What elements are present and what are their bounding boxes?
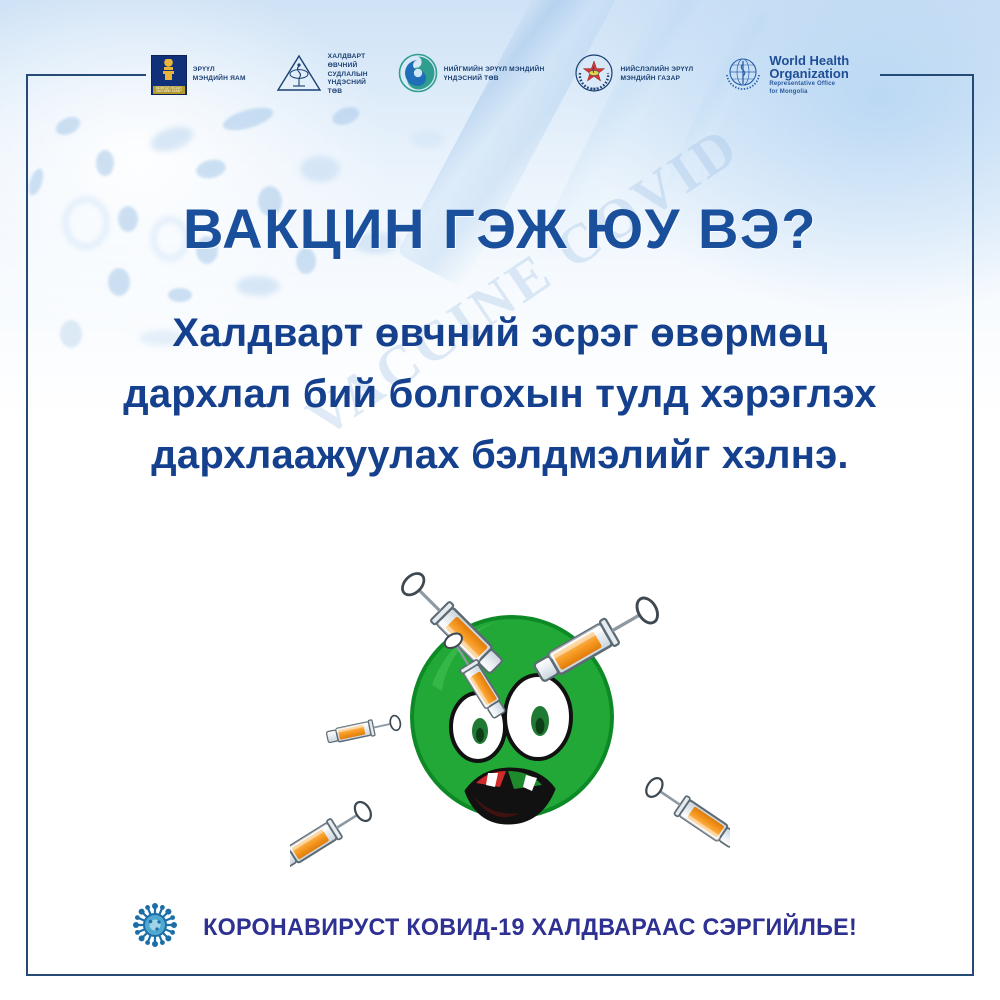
swirl-circle-icon — [398, 53, 438, 98]
logo-label-who-line2: Organization — [769, 67, 849, 81]
page-title: ВАКЦИН ГЭЖ ЮУ ВЭ? — [0, 196, 1000, 261]
syringe-lower-right — [642, 774, 730, 850]
body-line-3: дархлаажуулах бэлдмэлийг хэлнэ. — [40, 425, 960, 486]
logo-label-ncph: НИЙГМИЙН ЭРҮҮЛ МЭНДИЙН ҮНДЭСНИЙ ТӨВ — [444, 66, 545, 84]
virus-mascot-illustration — [290, 495, 730, 895]
footer-banner: КОРОНАВИРУСТ КОВИД-19 ХАЛДВАРААС СЭРГИЙЛ… — [0, 903, 1000, 952]
partner-logo-strip: МОНГОЛ УЛСЫН ЗАСГИЙН ГАЗАР ЭРҮҮЛ МЭНДИЙН… — [0, 44, 1000, 106]
logo-label-city-health-department: НИЙСЛЭЛИЙН ЭРҮҮЛ МЭНДИЙН ГАЗАР — [620, 66, 693, 84]
frame-bottom — [26, 974, 974, 976]
poster-canvas: VACCINE COVID МОНГОЛ УЛСЫН ЗАСГИЙН ГАЗАР… — [0, 0, 1000, 1000]
wreath-star-caduceus-icon: ЭМГ — [574, 53, 614, 98]
logo-ncph: НИЙГМИЙН ЭРҮҮЛ МЭНДИЙН ҮНДЭСНИЙ ТӨВ — [398, 53, 545, 98]
mongolia-state-emblem-icon: МОНГОЛ УЛСЫН ЗАСГИЙН ГАЗАР — [151, 55, 187, 95]
syringe-mid-left — [326, 714, 402, 745]
logo-who: World Health Organization Representative… — [723, 53, 849, 98]
logo-label-who-line1: World Health — [769, 54, 849, 68]
emblem-plate-text: МОНГОЛ УЛСЫН ЗАСГИЙН ГАЗАР — [153, 86, 185, 94]
body-line-2: дархлал бий болгохын тулд хэрэглэх — [40, 364, 960, 425]
logo-ministry-of-health: МОНГОЛ УЛСЫН ЗАСГИЙН ГАЗАР ЭРҮҮЛ МЭНДИЙН… — [151, 55, 246, 95]
svg-text:ЭМГ: ЭМГ — [591, 87, 598, 91]
body-text: Халдварт өвчний эсрэг өвөрмөц дархлал би… — [40, 303, 960, 485]
triangle-caduceus-icon — [276, 53, 322, 98]
logo-label-ministry-of-health: ЭРҮҮЛ МЭНДИЙН ЯАМ — [193, 66, 246, 84]
logo-label-nccd: ХАЛДВАРТ ӨВЧНИЙ СУДЛАЛЫН ҮНДЭСНИЙ ТӨВ — [328, 53, 368, 97]
syringe-lower-left — [290, 798, 375, 872]
footer-slogan: КОРОНАВИРУСТ КОВИД-19 ХАЛДВАРААС СЭРГИЙЛ… — [203, 914, 857, 942]
body-line-1: Халдварт өвчний эсрэг өвөрмөц — [40, 303, 960, 364]
who-globe-serpent-icon — [723, 53, 763, 98]
coronavirus-icon — [133, 903, 177, 952]
logo-nccd: ХАЛДВАРТ ӨВЧНИЙ СУДЛАЛЫН ҮНДЭСНИЙ ТӨВ — [276, 53, 368, 98]
logo-city-health-department: ЭМГ НИЙСЛЭЛИЙН ЭРҮҮЛ МЭНДИЙН ГАЗАР — [574, 53, 693, 98]
logo-label-who-sub: Representative Office for Mongolia — [769, 81, 849, 97]
